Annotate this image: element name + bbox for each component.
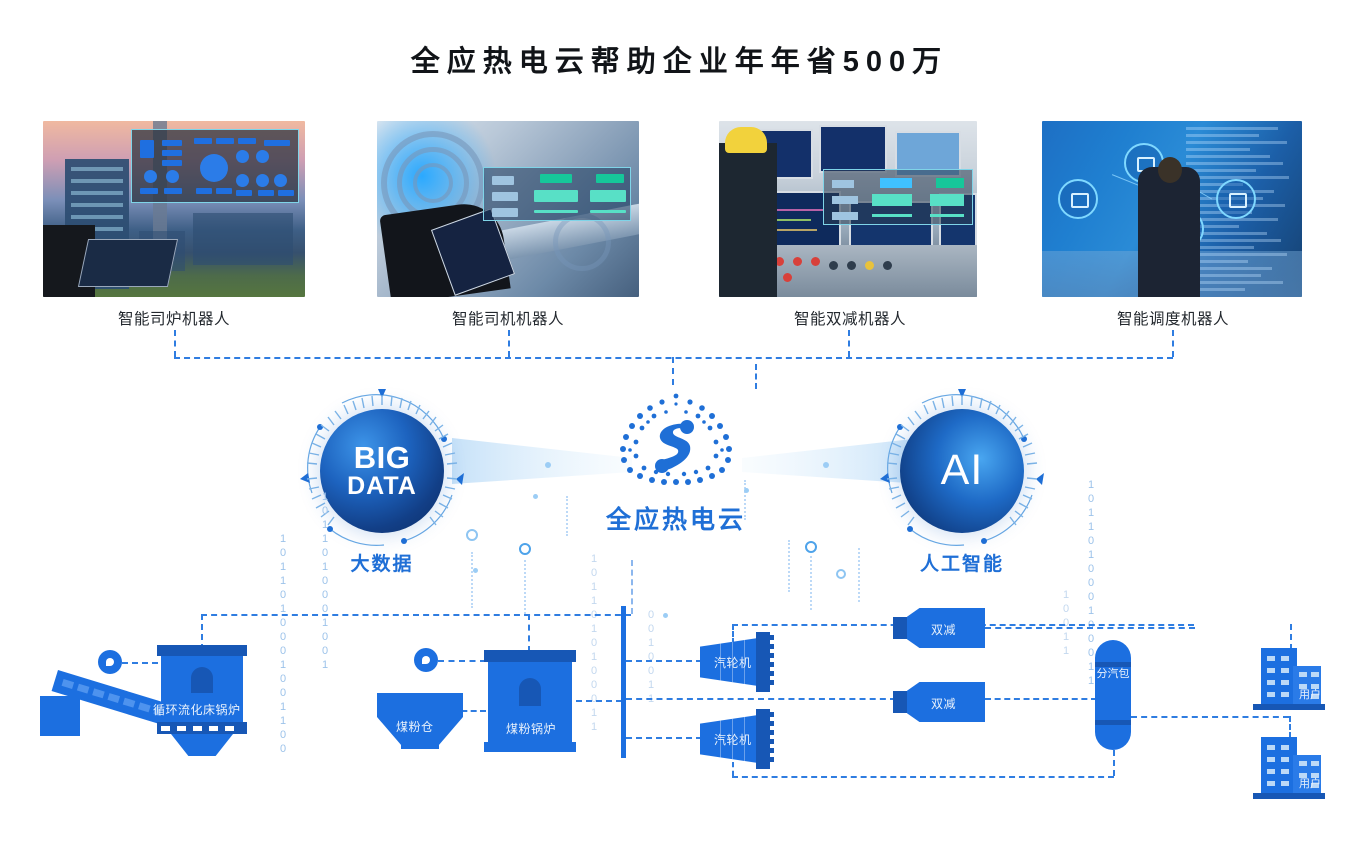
dot-column-2 xyxy=(524,560,526,614)
conveyor-base xyxy=(40,696,80,736)
turbine-tablet-photo xyxy=(377,121,639,297)
card-caption: 智能司机机器人 xyxy=(357,307,659,329)
bigdata-line2: DATA xyxy=(347,474,417,500)
laptop xyxy=(78,239,178,287)
decor-dot-2 xyxy=(533,494,538,499)
conn-header-main xyxy=(626,698,896,700)
dot-column-5 xyxy=(788,540,790,592)
analysis-icon xyxy=(1058,179,1098,219)
cfb-sensor-icon[interactable] xyxy=(98,650,122,674)
dual-reduction-valve-1[interactable]: 双减 xyxy=(893,608,985,648)
pc-boiler[interactable]: 煤粉锅炉 xyxy=(484,650,576,754)
decor-ring-3 xyxy=(805,541,817,553)
scada-overlay xyxy=(131,129,299,203)
dotted-cloud-logo[interactable] xyxy=(596,388,756,508)
decor-dot-3 xyxy=(744,488,749,493)
conn-cfb-drop xyxy=(528,614,530,652)
connector-card3-drop xyxy=(848,330,850,357)
cfb-boiler[interactable]: 循环流化床锅炉 xyxy=(157,645,247,757)
dot-column-3 xyxy=(566,496,568,536)
conn-dual2-out xyxy=(985,698,1097,700)
conn-distributor-user2 xyxy=(1131,716,1289,718)
binary-decor-3: 1011010100011 xyxy=(588,552,600,734)
ai-orb-text: AI xyxy=(900,409,1024,533)
decor-dot-4 xyxy=(663,613,668,618)
card-dispatch-operator[interactable]: 智能调度机器人 xyxy=(1042,121,1302,297)
decor-ring-2 xyxy=(519,543,531,555)
cloud-label: 全应热电云 xyxy=(556,500,796,536)
steam-header xyxy=(621,606,626,758)
user-2-label: 用户 xyxy=(1299,775,1321,791)
dot-column-4 xyxy=(744,480,746,520)
cfb-boiler-label: 循环流化床锅炉 xyxy=(153,701,241,718)
connector-cloud-feed-left xyxy=(672,357,674,385)
binary-decor-5: 10011 xyxy=(1060,588,1072,658)
conn-bottom-loop xyxy=(732,776,1114,778)
hard-hat xyxy=(725,127,767,153)
binary-decor-2: 1011010001001 xyxy=(319,490,331,672)
decor-dot-1 xyxy=(473,568,478,573)
decor-ring-4 xyxy=(836,569,846,579)
card-caption: 智能双减机器人 xyxy=(699,307,1001,329)
user-1-label: 用户 xyxy=(1299,686,1321,702)
steam-turbine-2[interactable]: 汽轮机 xyxy=(700,709,778,769)
page-title: 全应热电云帮助企业年年省500万 xyxy=(0,38,1359,80)
turbine-1-label: 汽轮机 xyxy=(714,654,752,671)
card-dual-reduction-operator[interactable]: 智能双减机器人 xyxy=(719,121,977,297)
ai-caption: 人工智能 xyxy=(872,549,1052,576)
decor-ring-1 xyxy=(466,529,478,541)
connector-card2-drop xyxy=(508,330,510,357)
binary-decor-1: 1011010001001100 xyxy=(277,532,289,756)
dot-column-1 xyxy=(471,552,473,608)
bigdata-orb-text: BIG DATA xyxy=(320,409,444,533)
turbine-overlay xyxy=(483,167,631,221)
conn-cfb-bus xyxy=(201,614,631,616)
coal-bunker[interactable]: 煤粉仓 xyxy=(377,693,463,751)
card-turbine-operator[interactable]: 智能司机机器人 xyxy=(377,121,639,297)
card-caption: 智能司炉机器人 xyxy=(23,307,325,329)
connector-card4-drop xyxy=(1172,330,1174,357)
conn-icon-pc xyxy=(438,660,486,662)
conn-distributor-bottom xyxy=(1113,750,1115,776)
steam-turbine-1[interactable]: 汽轮机 xyxy=(700,632,778,692)
ai-dispatch-photo xyxy=(1042,121,1302,297)
conn-pc-to-header xyxy=(576,700,622,702)
conn-user2-drop xyxy=(1289,716,1291,738)
connector-cloud-feed-right xyxy=(755,364,757,389)
infographic-canvas: 全应热电云帮助企业年年省500万 xyxy=(0,0,1359,842)
dual-reduction-valve-2[interactable]: 双减 xyxy=(893,682,985,722)
dual-reduction-2-label: 双减 xyxy=(931,695,956,712)
pc-boiler-label: 煤粉锅炉 xyxy=(506,720,556,737)
distributor-label: 分汽包 xyxy=(1095,666,1131,682)
power-plant-laptop-photo xyxy=(43,121,305,297)
conn-header-turbine2 xyxy=(626,737,702,739)
dot-column-6 xyxy=(858,548,860,602)
steam-distributor[interactable]: 分汽包 xyxy=(1095,640,1131,750)
core-ai[interactable]: AI 人工智能 xyxy=(872,381,1052,581)
user-building-2[interactable]: 用户 xyxy=(1253,737,1325,799)
pc-sensor-icon[interactable] xyxy=(414,648,438,672)
conn-dual1-out xyxy=(985,627,1195,629)
conn-cloud-down-main xyxy=(631,560,633,614)
bigdata-line1: BIG xyxy=(354,442,411,474)
turbine-2-label: 汽轮机 xyxy=(714,731,752,748)
chart-monitor-icon xyxy=(1216,179,1256,219)
dot-column-7 xyxy=(810,556,812,610)
card-caption: 智能调度机器人 xyxy=(1022,307,1324,329)
ai-line1: AI xyxy=(941,449,984,493)
connector-card1-drop xyxy=(174,330,176,357)
user-building-1[interactable]: 用户 xyxy=(1253,648,1325,710)
card-boiler-operator[interactable]: 智能司炉机器人 xyxy=(43,121,305,297)
coal-bunker-label: 煤粉仓 xyxy=(396,718,434,735)
binary-decor-4: 0010011 xyxy=(645,608,657,706)
dual-reduction-overlay xyxy=(823,169,973,225)
control-room-photo xyxy=(719,121,977,297)
conn-user1-drop xyxy=(1290,624,1292,650)
dual-reduction-1-label: 双减 xyxy=(931,621,956,638)
conn-header-turbine1 xyxy=(626,660,702,662)
